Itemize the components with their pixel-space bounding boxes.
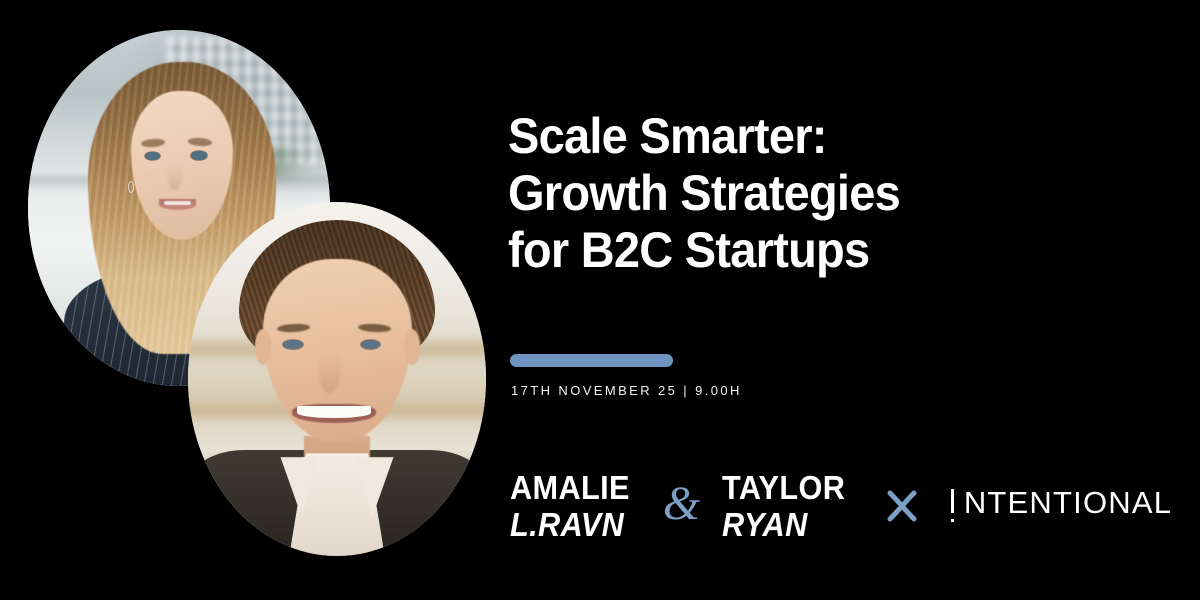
event-promo-poster: Scale Smarter: Growth Strategies for B2C… — [0, 0, 1200, 600]
brand-i-dot — [951, 519, 954, 522]
speaker-amalie-first-name: AMALIE — [510, 471, 630, 505]
portrait-amalie-nose — [168, 165, 182, 190]
speaker-taylor-last-name: RYAN — [722, 508, 845, 542]
brand-wordmark: NTENTIONAL — [964, 487, 1172, 518]
brand-i-mark-icon — [949, 483, 959, 527]
event-date-time: 17TH NOVEMBER 25 | 9.00H — [511, 383, 742, 398]
ampersand-separator: & — [663, 480, 700, 532]
speaker-taylor-first-name: TAYLOR — [722, 471, 845, 505]
portrait-taylor-image — [188, 202, 486, 556]
portrait-taylor-eye-left — [283, 340, 302, 349]
portrait-amalie-teeth — [164, 201, 191, 205]
portrait-taylor-nose — [319, 354, 340, 393]
speaker-amalie: AMALIE L.RAVN — [510, 471, 639, 541]
portrait-taylor-teeth — [297, 406, 372, 418]
poster-headline: Scale Smarter: Growth Strategies for B2C… — [508, 108, 1110, 279]
brand-i-bar — [951, 489, 954, 513]
speakers-row: AMALIE L.RAVN & TAYLOR RYAN NTENTION — [510, 466, 1172, 546]
portrait-amalie-eye-right — [191, 151, 207, 160]
brand-logo-intentional: NTENTIONAL — [949, 483, 1172, 529]
poster-content: Scale Smarter: Growth Strategies for B2C… — [508, 0, 1168, 600]
portrait-taylor — [188, 202, 486, 556]
speaker-amalie-last-name: L.RAVN — [510, 508, 630, 542]
accent-divider — [510, 354, 673, 367]
cross-separator-icon — [885, 486, 919, 526]
speaker-taylor: TAYLOR RYAN — [722, 471, 855, 541]
